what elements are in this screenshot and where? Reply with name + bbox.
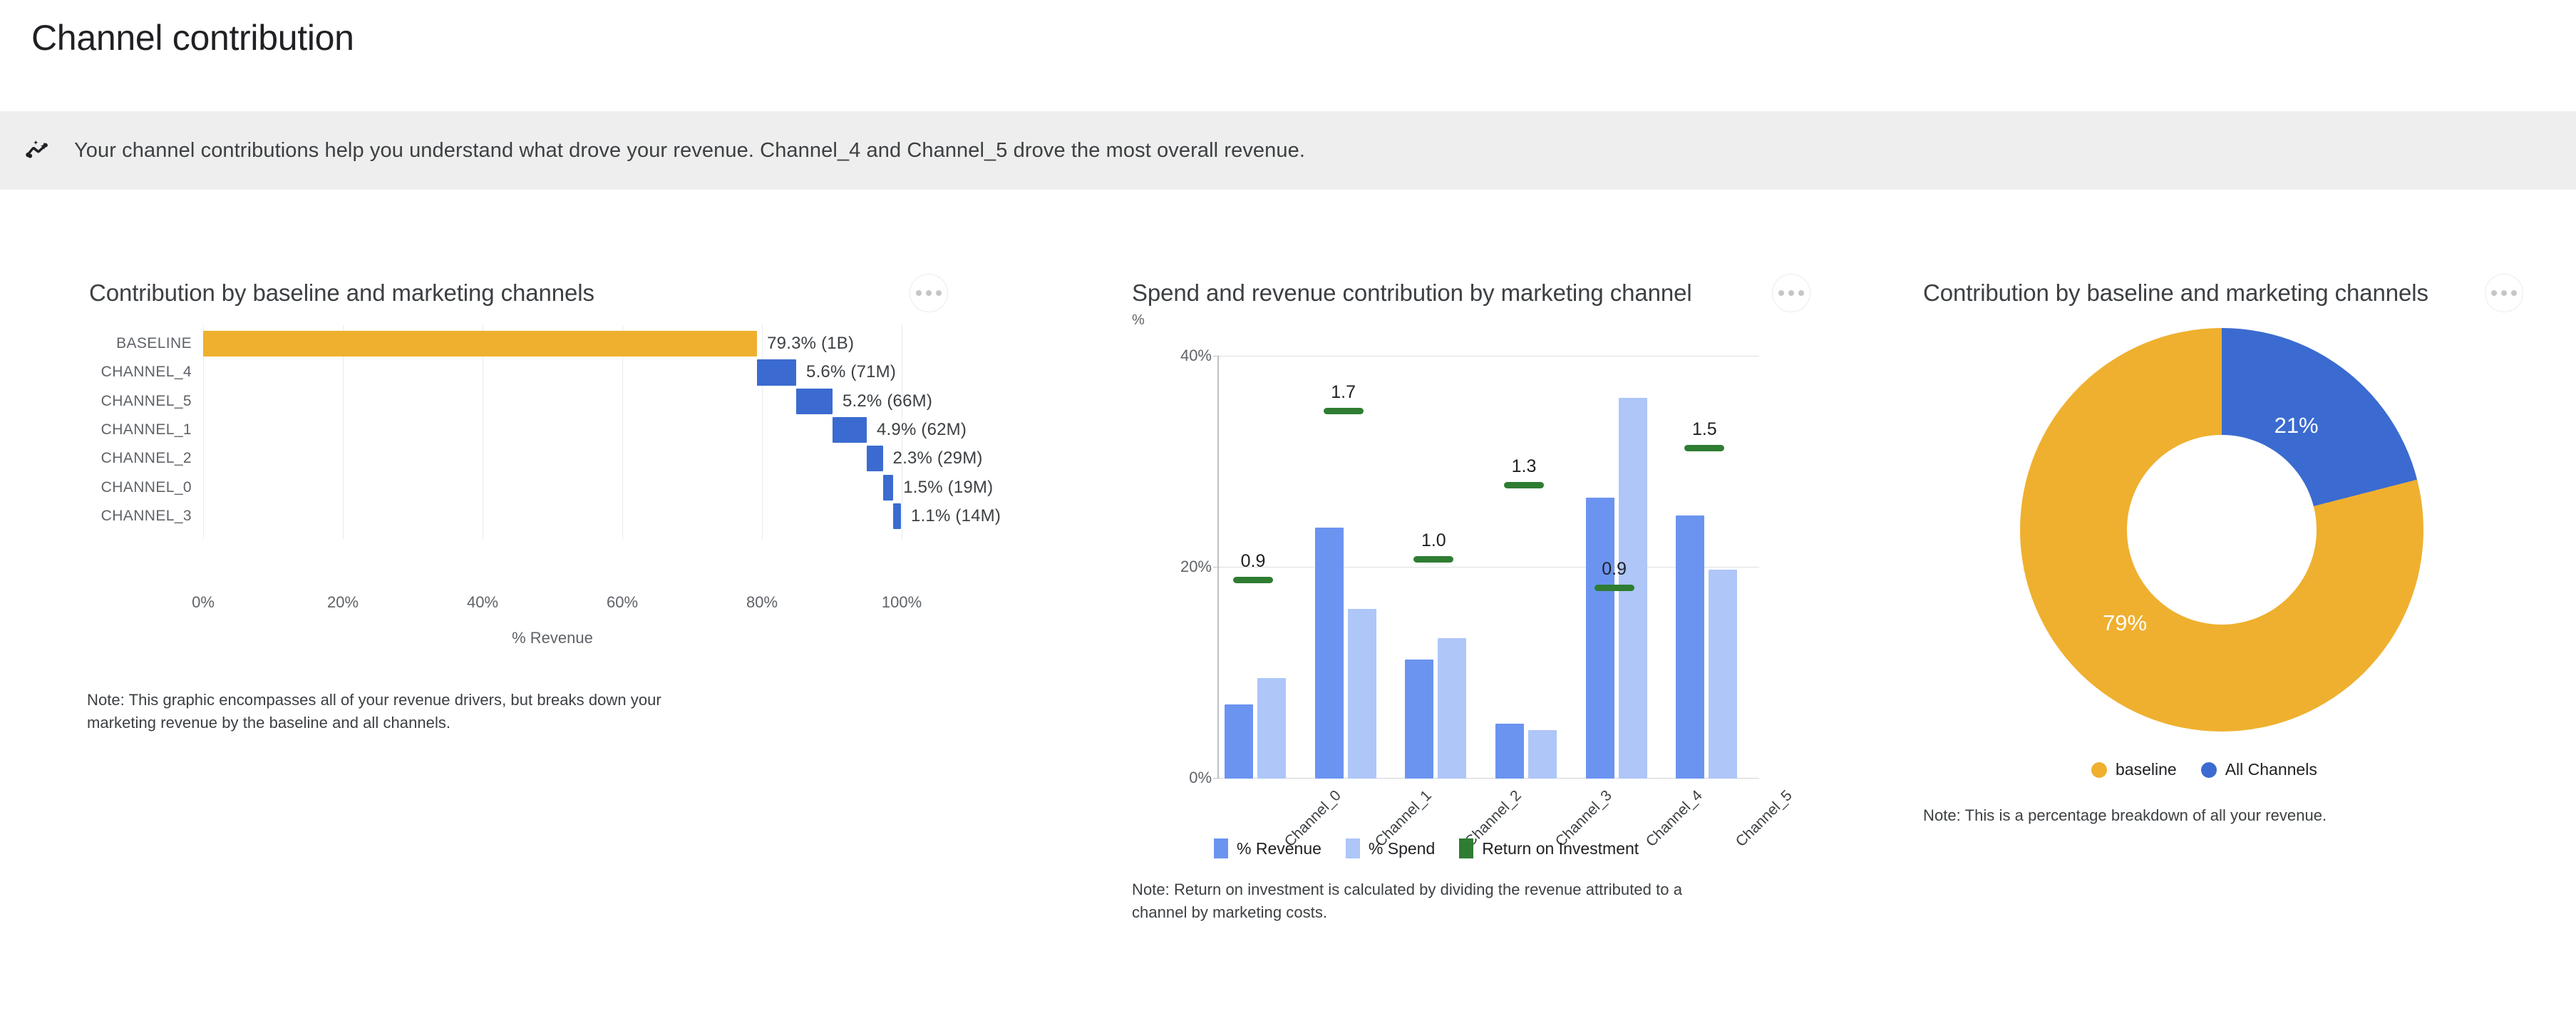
waterfall-row: CHANNEL_22.3% (29M) [203,444,902,473]
bar-revenue[interactable] [1405,660,1433,779]
roi-marker[interactable] [1504,482,1544,488]
donut-slice-label-baseline: 79% [2103,610,2147,636]
waterfall-x-tick: 20% [327,593,359,612]
waterfall-row-label: CHANNEL_2 [101,450,192,467]
legend-item[interactable]: All Channels [2201,760,2317,779]
legend-item[interactable]: baseline [2091,760,2177,779]
waterfall-x-tick: 100% [882,593,922,612]
roi-value-label: 0.9 [1233,551,1273,572]
waterfall-value-label: 79.3% (1B) [767,334,854,354]
waterfall-bar[interactable] [203,331,757,356]
bar-revenue[interactable] [1315,528,1344,779]
waterfall-value-label: 4.9% (62M) [877,420,967,440]
y-axis-tick: 40% [1180,347,1212,365]
legend-dot-icon [2091,762,2107,778]
waterfall-row: CHANNEL_01.5% (19M) [203,473,902,502]
y-axis-tick: 0% [1189,769,1212,787]
waterfall-row-label: CHANNEL_0 [101,479,192,496]
donut-slice-label-all-channels: 21% [2274,413,2319,438]
page-title: Channel contribution [0,0,2576,58]
legend-item[interactable]: Return on Investment [1459,838,1639,858]
panel-waterfall: Contribution by baseline and marketing c… [0,190,1098,1021]
waterfall-value-label: 2.3% (29M) [893,448,983,468]
spend-revenue-chart: 0%20%40%Channel_00.9Channel_11.7Channel_… [1176,356,1762,793]
insight-banner: Your channel contributions help you unde… [0,111,2576,190]
waterfall-row-label: CHANNEL_5 [101,393,192,410]
waterfall-bar[interactable] [883,475,894,501]
bar-group: 1.0 [1399,356,1490,779]
donut-title: Contribution by baseline and marketing c… [1923,279,2428,307]
waterfall-row-label: CHANNEL_3 [101,508,192,525]
bar-revenue[interactable] [1676,515,1704,779]
waterfall-note: Note: This graphic encompasses all of yo… [87,689,714,734]
waterfall-bar[interactable] [893,503,901,529]
waterfall-row-label: CHANNEL_4 [101,364,192,381]
roi-value-label: 1.0 [1413,530,1453,551]
kebab-more-icon[interactable] [1772,274,1810,312]
bar-spend[interactable] [1257,678,1286,779]
donut-note: Note: This is a percentage breakdown of … [1923,804,2451,827]
donut-chart: 79% 21% [2020,328,2423,732]
roi-marker[interactable] [1594,585,1634,591]
waterfall-x-axis-label: % Revenue [203,629,902,647]
waterfall-row-label: BASELINE [116,335,192,352]
waterfall-row-label: CHANNEL_1 [101,421,192,438]
waterfall-x-tick: 40% [467,593,498,612]
x-axis-category: Channel_5 [1733,787,1796,851]
legend-item[interactable]: % Spend [1346,838,1435,858]
roi-value-label: 1.3 [1504,456,1544,477]
roi-marker[interactable] [1324,408,1364,414]
legend-label: % Revenue [1237,839,1322,858]
waterfall-bar[interactable] [867,446,883,471]
waterfall-row: BASELINE79.3% (1B) [203,329,902,358]
waterfall-x-tick: 60% [607,593,638,612]
charts-row: Contribution by baseline and marketing c… [0,190,2576,1021]
legend-label: All Channels [2225,760,2317,779]
waterfall-x-tick: 80% [746,593,778,612]
waterfall-bar[interactable] [833,417,867,443]
bar-group: 0.9 [1580,356,1671,779]
spend-revenue-note: Note: Return on investment is calculated… [1132,878,1688,924]
donut-legend: baselineAll Channels [2091,760,2341,779]
waterfall-value-label: 1.1% (14M) [911,506,1001,526]
spend-revenue-legend: % Revenue% SpendReturn on Investment [1214,838,1663,858]
waterfall-plot: BASELINE79.3% (1B)CHANNEL_45.6% (71M)CHA… [203,329,902,530]
spend-revenue-header: Spend and revenue contribution by market… [1098,190,1810,312]
bar-spend[interactable] [1348,609,1376,779]
waterfall-value-label: 5.6% (71M) [806,362,896,382]
bar-spend[interactable] [1438,638,1466,779]
bar-spend[interactable] [1528,730,1557,779]
roi-value-label: 1.5 [1684,419,1724,440]
legend-label: Return on Investment [1482,839,1639,858]
spend-revenue-plot: 0%20%40%Channel_00.9Channel_11.7Channel_… [1217,356,1759,779]
roi-marker[interactable] [1684,445,1724,451]
waterfall-row: CHANNEL_31.1% (14M) [203,502,902,530]
roi-marker[interactable] [1413,556,1453,563]
donut-hole [2127,435,2317,625]
waterfall-header: Contribution by baseline and marketing c… [0,190,948,312]
bar-group: 1.3 [1490,356,1580,779]
bar-revenue[interactable] [1586,498,1614,779]
kebab-more-icon[interactable] [910,274,948,312]
legend-swatch-icon [1346,838,1360,858]
waterfall-title: Contribution by baseline and marketing c… [89,279,594,307]
spend-revenue-title: Spend and revenue contribution by market… [1132,279,1692,307]
bar-spend[interactable] [1709,570,1737,779]
legend-label: baseline [2116,760,2177,779]
spend-revenue-unit-label: % [1132,312,1145,329]
waterfall-row: CHANNEL_14.9% (62M) [203,416,902,444]
legend-swatch-icon [1459,838,1473,858]
waterfall-x-tick: 0% [192,593,215,612]
waterfall-bar[interactable] [757,359,796,385]
waterfall-row: CHANNEL_55.2% (66M) [203,387,902,416]
roi-marker[interactable] [1233,577,1273,583]
bar-group: 0.9 [1219,356,1309,779]
waterfall-row: CHANNEL_45.6% (71M) [203,358,902,386]
waterfall-value-label: 5.2% (66M) [843,391,932,411]
roi-value-label: 1.7 [1324,382,1364,403]
insight-text: Your channel contributions help you unde… [74,139,1305,163]
legend-item[interactable]: % Revenue [1214,838,1322,858]
bar-group: 1.5 [1670,356,1761,779]
panel-spend-revenue: Spend and revenue contribution by market… [1098,190,1889,1021]
bar-revenue[interactable] [1495,724,1524,779]
waterfall-value-label: 1.5% (19M) [903,478,993,498]
bar-group: 1.7 [1309,356,1400,779]
legend-label: % Spend [1369,839,1435,858]
panel-donut: Contribution by baseline and marketing c… [1889,190,2576,1021]
y-axis-tick: 20% [1180,558,1212,576]
roi-value-label: 0.9 [1594,559,1634,580]
waterfall-bar[interactable] [796,389,833,414]
waterfall-x-axis: 0%20%40%60%80%100% [203,593,902,622]
bar-revenue[interactable] [1225,704,1253,779]
waterfall-chart: BASELINE79.3% (1B)CHANNEL_45.6% (71M)CHA… [89,329,1016,572]
donut-header: Contribution by baseline and marketing c… [1889,190,2523,312]
kebab-more-icon[interactable] [2485,274,2523,312]
insights-sparkle-icon [17,129,60,172]
legend-swatch-icon [1214,838,1228,858]
legend-dot-icon [2201,762,2217,778]
